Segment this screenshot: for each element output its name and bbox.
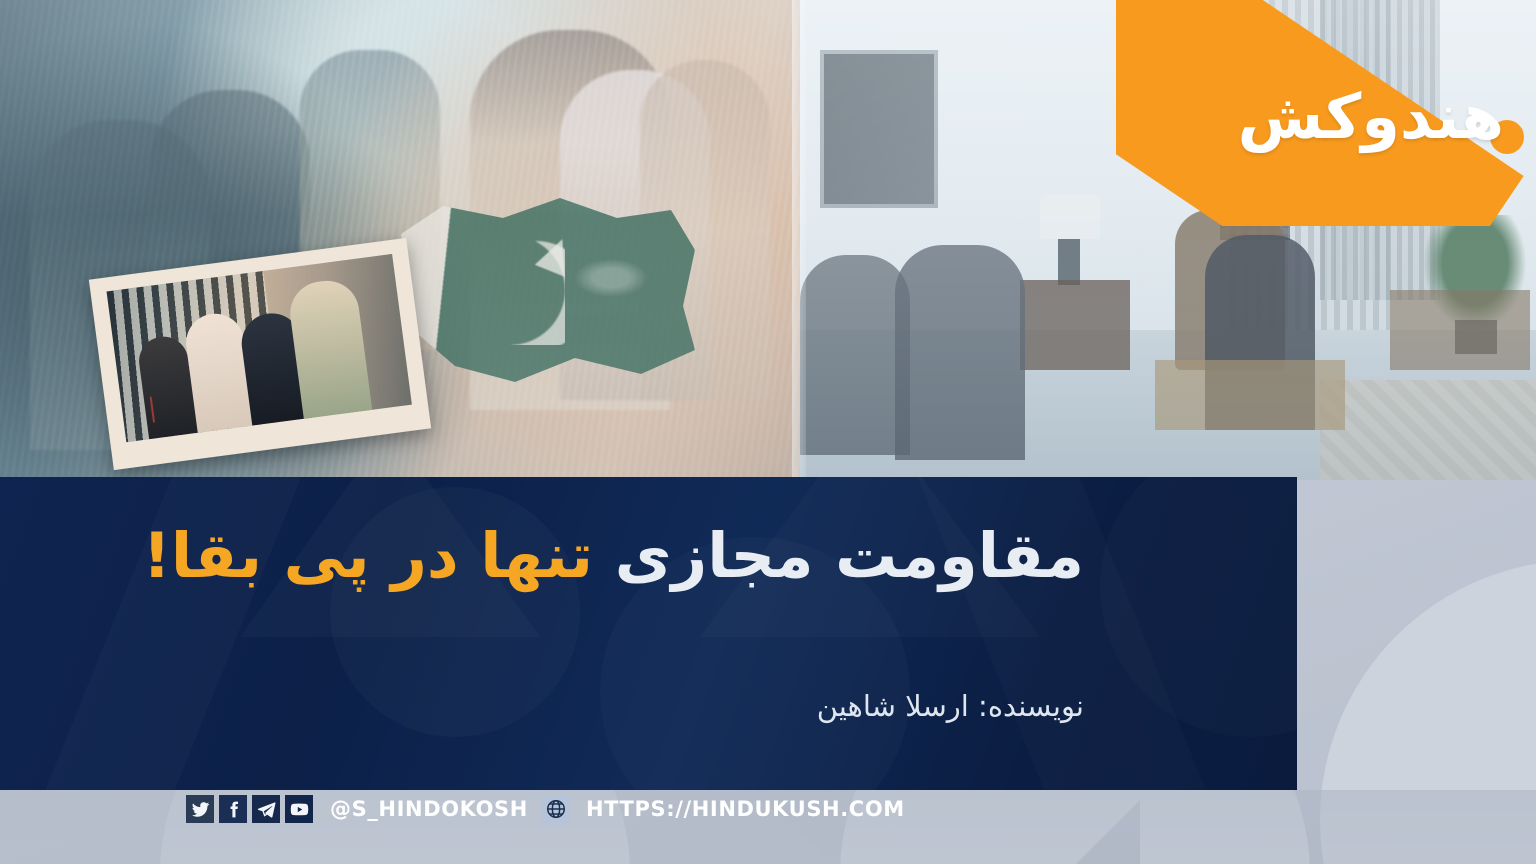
page-title-primary: مقاومت مجازی bbox=[615, 519, 1084, 592]
social-handle[interactable]: @S_HINDOKOSH bbox=[330, 797, 528, 821]
page-title-accent: تنها در پی بقا! bbox=[143, 519, 594, 592]
youtube-icon[interactable] bbox=[285, 795, 313, 823]
telegram-icon[interactable] bbox=[252, 795, 280, 823]
hero-photo-montage bbox=[0, 0, 1536, 480]
website-url[interactable]: HTTPS://HINDUKUSH.COM bbox=[586, 797, 905, 821]
cover-canvas: هندوکش مقاومت مجازی تنها در پی بقا! نویس… bbox=[0, 0, 1536, 864]
twitter-icon[interactable] bbox=[186, 795, 214, 823]
facebook-icon[interactable] bbox=[219, 795, 247, 823]
footer-contact-row: @S_HINDOKOSH HTTPS://HINDUKUSH.COM bbox=[186, 792, 905, 826]
polaroid-necktie bbox=[150, 396, 155, 422]
globe-icon[interactable] bbox=[542, 795, 570, 823]
title-panel: مقاومت مجازی تنها در پی بقا! نویسنده: ار… bbox=[0, 477, 1297, 790]
polaroid-image bbox=[107, 254, 412, 442]
author-byline: نویسنده: ارسلا شاهین bbox=[817, 689, 1084, 723]
page-title: مقاومت مجازی تنها در پی بقا! bbox=[143, 517, 1084, 595]
